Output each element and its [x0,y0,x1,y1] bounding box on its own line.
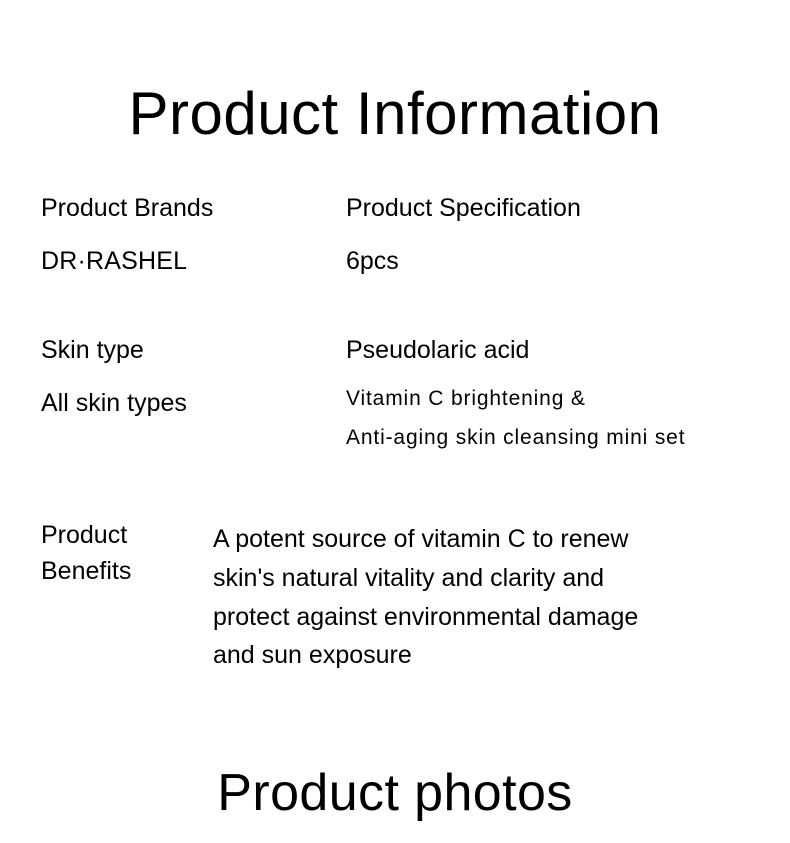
info-cell-ingredient: Pseudolaric acid Vitamin C brightening &… [346,338,781,448]
field-value-product-brands: DR·RASHEL [41,249,331,274]
benefits-text-line: A potent source of vitamin C to renew [213,520,781,559]
field-value-product-specification: 6pcs [346,249,781,274]
info-cell-skin-type: Skin type All skin types [41,338,331,416]
benefits-text-line: protect against environmental damage [213,598,781,637]
ingredient-sub-line-2: Anti-aging skin cleansing mini set [346,427,781,448]
benefits-label-line-1: Product [41,518,201,554]
product-information-page: Product Information Product Brands DR·RA… [0,0,790,843]
benefits-text-line: and sun exposure [213,636,781,675]
page-title: Product Information [0,82,790,145]
field-label-product-brands: Product Brands [41,196,331,221]
benefits-label-line-2: Benefits [41,554,201,590]
field-label-product-specification: Product Specification [346,196,781,221]
ingredient-sub-line-1: Vitamin C brightening & [346,388,781,409]
info-row: Skin type All skin types Pseudolaric aci… [41,338,781,510]
field-value-skin-type: All skin types [41,391,331,416]
info-cell-brand: Product Brands DR·RASHEL [41,196,331,274]
info-row: Product Brands DR·RASHEL Product Specifi… [41,196,781,338]
field-value-product-benefits: A potent source of vitamin C to renew sk… [213,520,781,675]
info-cell-specification: Product Specification 6pcs [346,196,781,274]
field-label-skin-type: Skin type [41,338,331,363]
product-info-grid: Product Brands DR·RASHEL Product Specifi… [41,196,781,510]
field-label-product-benefits: Product Benefits [41,518,201,589]
benefits-text-line: skin's natural vitality and clarity and [213,559,781,598]
product-photos-heading: Product photos [0,766,790,821]
field-label-pseudolaric-acid: Pseudolaric acid [346,338,781,363]
